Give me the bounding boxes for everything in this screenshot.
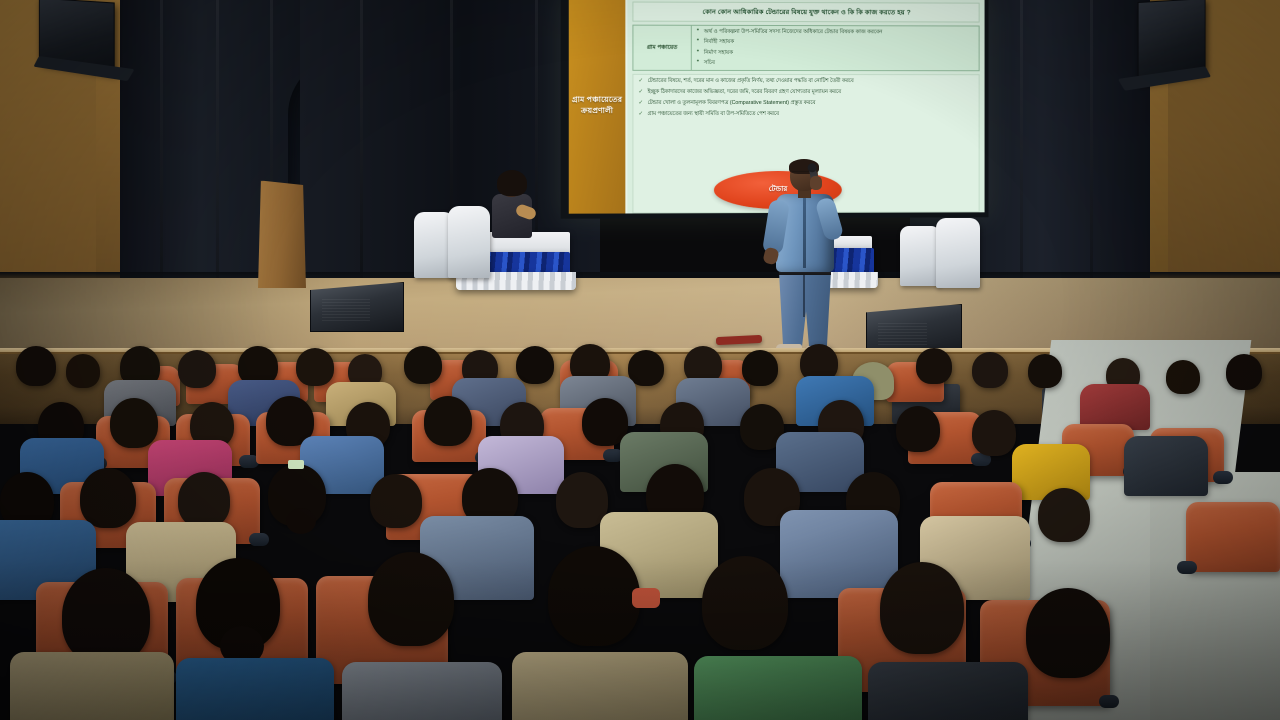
audience-head bbox=[370, 474, 422, 528]
audience-person bbox=[512, 652, 688, 720]
audience-person bbox=[694, 656, 862, 720]
slide-check-item: গ্রাম পঞ্চায়েতের জন্য স্থায়ী সমিতি বা … bbox=[638, 111, 973, 118]
audience-head bbox=[516, 346, 554, 384]
seated-person-on-stage bbox=[486, 172, 540, 244]
audience-area bbox=[0, 332, 1280, 720]
auditorium-photo: গ্রাম পঞ্চায়েতের ক্রয়প্রণালী কোন কোন আ… bbox=[0, 0, 1280, 720]
audience-head bbox=[1226, 354, 1262, 390]
audience-head bbox=[80, 468, 136, 528]
audience-head bbox=[368, 552, 454, 646]
audience-head bbox=[916, 348, 952, 384]
audience-head bbox=[110, 398, 158, 448]
audience-head bbox=[896, 406, 940, 452]
hair-clip bbox=[632, 588, 660, 608]
wall-speaker-right-icon bbox=[1138, 0, 1206, 83]
slide-sidebar-title: গ্রাম পঞ্চায়েতের ক্রয়প্রণালী bbox=[569, 95, 626, 117]
stage-chair-white-2 bbox=[448, 206, 490, 278]
slide-table-row-label: গ্রাম পঞ্চায়েত bbox=[633, 26, 691, 70]
audience-head bbox=[548, 546, 640, 646]
slide-table: গ্রাম পঞ্চায়েত অর্থ ও পরিকল্পনা উপ-সমিত… bbox=[632, 25, 979, 71]
audience-person bbox=[10, 652, 174, 720]
audience-head bbox=[62, 568, 150, 664]
stage-monitor-speaker-left bbox=[310, 282, 404, 332]
slide-table-item: নির্মাণ সহায়ক bbox=[696, 49, 975, 56]
audience-person bbox=[342, 662, 502, 720]
slide-check-item: ইচ্ছুক ঠিকাদারদের কাজের অভিজ্ঞতা, দরের জ… bbox=[638, 89, 973, 96]
audience-head bbox=[1026, 588, 1110, 678]
slide-table-item: অর্থ ও পরিকল্পনা উপ-সমিতির সদস্য নিজেদের… bbox=[696, 29, 975, 36]
audience-head bbox=[628, 350, 664, 386]
hair-clip bbox=[288, 460, 304, 469]
audience-head bbox=[404, 346, 442, 384]
audience-person bbox=[780, 510, 898, 598]
audience-head bbox=[16, 346, 56, 386]
stage-chair-white-4 bbox=[936, 218, 980, 288]
slide-sidebar: গ্রাম পঞ্চায়েতের ক্রয়প্রণালী bbox=[569, 0, 628, 214]
audience-head bbox=[1028, 354, 1062, 388]
audience-head bbox=[742, 350, 778, 386]
slide-table-items: অর্থ ও পরিকল্পনা উপ-সমিতির সদস্য নিজেদের… bbox=[692, 26, 979, 70]
audience-head bbox=[972, 410, 1016, 456]
slide-check-item: টেন্ডারের বিষয়ে, শর্ত, দরের মান ও কাজের… bbox=[638, 78, 973, 85]
audience-person bbox=[1124, 436, 1208, 496]
audience-head bbox=[972, 352, 1008, 388]
slide-check-item: টেন্ডার খোলা ও তুলনামূলক বিবরণপত্র (Comp… bbox=[638, 100, 973, 107]
slide-table-item: নির্বাহী সহায়ক bbox=[696, 39, 975, 46]
audience-head bbox=[296, 348, 334, 386]
audience-head bbox=[1166, 360, 1200, 394]
wall-speaker-left-icon bbox=[39, 0, 115, 74]
audience-head bbox=[702, 556, 788, 650]
wooden-podium bbox=[258, 176, 306, 288]
presenter-speaker bbox=[762, 160, 848, 358]
audience-person bbox=[176, 658, 334, 720]
audience-person bbox=[868, 662, 1028, 720]
audience-head bbox=[66, 354, 100, 388]
audience-head bbox=[424, 396, 472, 446]
audience-head bbox=[880, 562, 964, 654]
slide-table-item: সচিব bbox=[696, 60, 975, 67]
slide-heading: কোন কোন আধিকারিক টেন্ডারের বিষয়ে যুক্ত … bbox=[632, 2, 979, 23]
audience-head bbox=[1038, 488, 1090, 542]
audience-head bbox=[178, 472, 230, 528]
audience-head bbox=[178, 350, 216, 388]
stage-chair-white-3 bbox=[900, 226, 940, 286]
